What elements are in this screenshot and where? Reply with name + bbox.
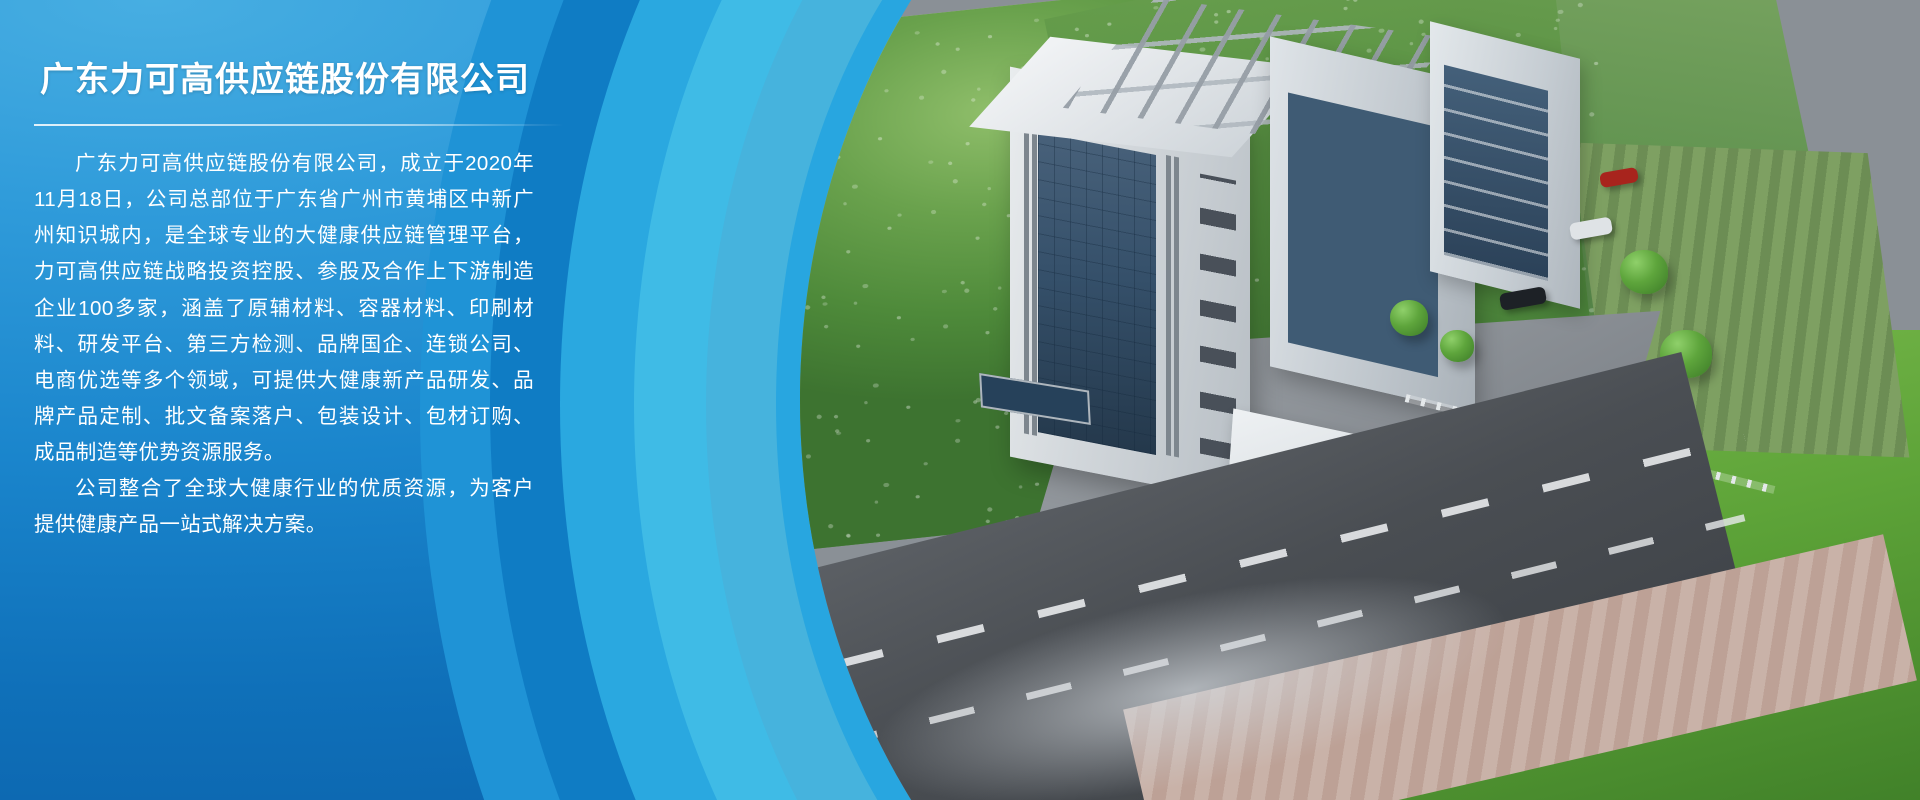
tree: [1390, 300, 1428, 336]
description-paragraph-1: 广东力可高供应链股份有限公司，成立于2020年11月18日，公司总部位于广东省广…: [34, 146, 534, 471]
office-building-tertiary: [1430, 21, 1580, 308]
company-description: 广东力可高供应链股份有限公司，成立于2020年11月18日，公司总部位于广东省广…: [34, 146, 534, 543]
tertiary-building-windows: [1444, 65, 1548, 281]
headquarters-photo: [800, 0, 1920, 800]
tree: [1440, 330, 1474, 362]
title-divider: [34, 124, 564, 126]
company-profile-banner: 广东力可高供应链股份有限公司 广东力可高供应链股份有限公司，成立于2020年11…: [0, 0, 1920, 800]
description-paragraph-2: 公司整合了全球大健康行业的优质资源，为客户提供健康产品一站式解决方案。: [34, 471, 534, 543]
facade-window-slots: [1200, 174, 1236, 461]
text-panel: 广东力可高供应链股份有限公司 广东力可高供应链股份有限公司，成立于2020年11…: [0, 0, 620, 800]
facade-fin: [1174, 157, 1179, 458]
page-title: 广东力可高供应链股份有限公司: [34, 58, 562, 102]
facade-fin: [1166, 155, 1171, 456]
tree: [1620, 250, 1668, 294]
headquarters-photo-circle-mask: [800, 0, 1920, 800]
